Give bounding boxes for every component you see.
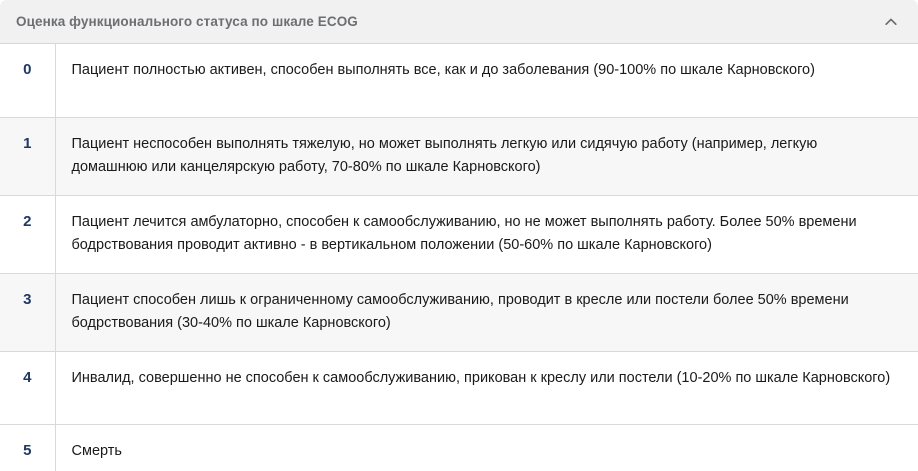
collapse-toggle-button[interactable] xyxy=(880,11,902,33)
score-description: Пациент способен лишь к ограниченному са… xyxy=(55,273,918,351)
score-value: 5 xyxy=(0,424,55,471)
score-description: Пациент лечится амбулаторно, способен к … xyxy=(55,195,918,273)
panel-header[interactable]: Оценка функционального статуса по шкале … xyxy=(0,0,918,44)
table-body: 0 Пациент полностью активен, способен вы… xyxy=(0,44,918,471)
chevron-up-icon xyxy=(883,14,899,30)
table-row: 1 Пациент неспособен выполнять тяжелую, … xyxy=(0,117,918,195)
table-row: 4 Инвалид, совершенно не способен к само… xyxy=(0,351,918,424)
score-value: 4 xyxy=(0,351,55,424)
score-description: Смерть xyxy=(55,424,918,471)
score-value: 0 xyxy=(0,44,55,117)
score-value: 2 xyxy=(0,195,55,273)
score-description: Инвалид, совершенно не способен к самооб… xyxy=(55,351,918,424)
ecog-scale-panel: Оценка функционального статуса по шкале … xyxy=(0,0,918,471)
score-value: 1 xyxy=(0,117,55,195)
score-value: 3 xyxy=(0,273,55,351)
ecog-scale-table: 0 Пациент полностью активен, способен вы… xyxy=(0,44,918,471)
page-title: Оценка функционального статуса по шкале … xyxy=(16,0,358,44)
table-row: 5 Смерть xyxy=(0,424,918,471)
score-description: Пациент полностью активен, способен выпо… xyxy=(55,44,918,117)
table-row: 0 Пациент полностью активен, способен вы… xyxy=(0,44,918,117)
score-description: Пациент неспособен выполнять тяжелую, но… xyxy=(55,117,918,195)
table-row: 2 Пациент лечится амбулаторно, способен … xyxy=(0,195,918,273)
table-row: 3 Пациент способен лишь к ограниченному … xyxy=(0,273,918,351)
